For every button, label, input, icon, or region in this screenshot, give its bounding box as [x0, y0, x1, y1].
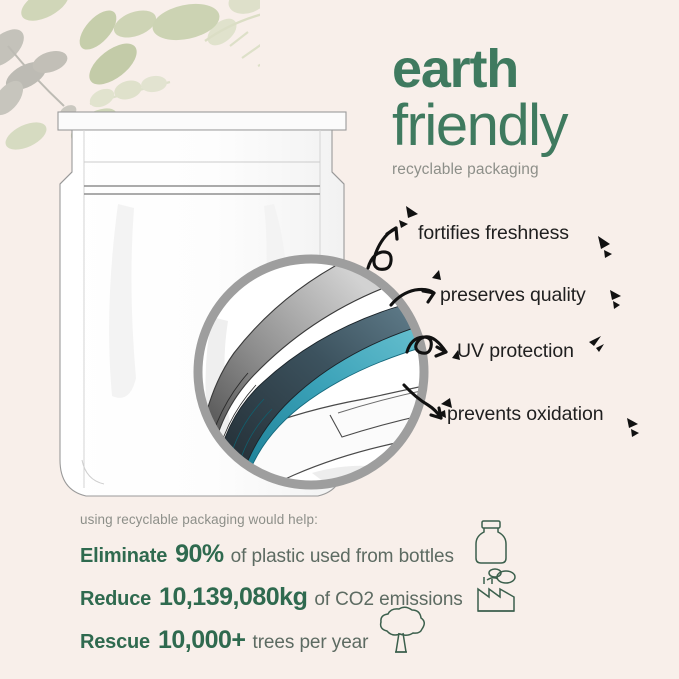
stat-row-reduce: Reduce 10,139,080kg of CO2 emissions — [80, 583, 640, 612]
stats-intro: using recyclable packaging would help: — [80, 512, 640, 527]
headline-block: earth friendly recyclable packaging — [392, 44, 672, 179]
stat-tail: trees per year — [253, 632, 369, 654]
infographic-canvas: earth friendly recyclable packaging fort… — [0, 0, 679, 679]
feature-label-preserves-quality: preserves quality — [440, 284, 586, 307]
stat-row-rescue: Rescue 10,000+ trees per year — [80, 626, 640, 655]
tree-icon — [373, 605, 429, 657]
headline-line-1: earth — [392, 44, 672, 95]
stats-block: using recyclable packaging would help: E… — [80, 512, 640, 669]
bottle-icon — [470, 518, 512, 566]
stat-verb: Rescue — [80, 631, 150, 654]
magnifier-film-layers — [186, 247, 436, 497]
headline-subtitle: recyclable packaging — [392, 161, 672, 179]
headline-line-2: friendly — [392, 97, 672, 155]
factory-icon — [470, 567, 524, 613]
stat-value: 90% — [175, 540, 224, 569]
feature-label-prevents-oxidation: prevents oxidation — [447, 403, 603, 426]
stat-verb: Reduce — [80, 588, 151, 611]
feature-label-fortifies-freshness: fortifies freshness — [418, 222, 569, 245]
stat-value: 10,139,080kg — [159, 583, 307, 612]
stat-verb: Eliminate — [80, 545, 167, 568]
feature-label-uv-protection: UV protection — [457, 340, 574, 363]
stat-row-eliminate: Eliminate 90% of plastic used from bottl… — [80, 540, 640, 569]
stat-value: 10,000+ — [158, 626, 246, 655]
stat-tail: of plastic used from bottles — [231, 546, 454, 568]
